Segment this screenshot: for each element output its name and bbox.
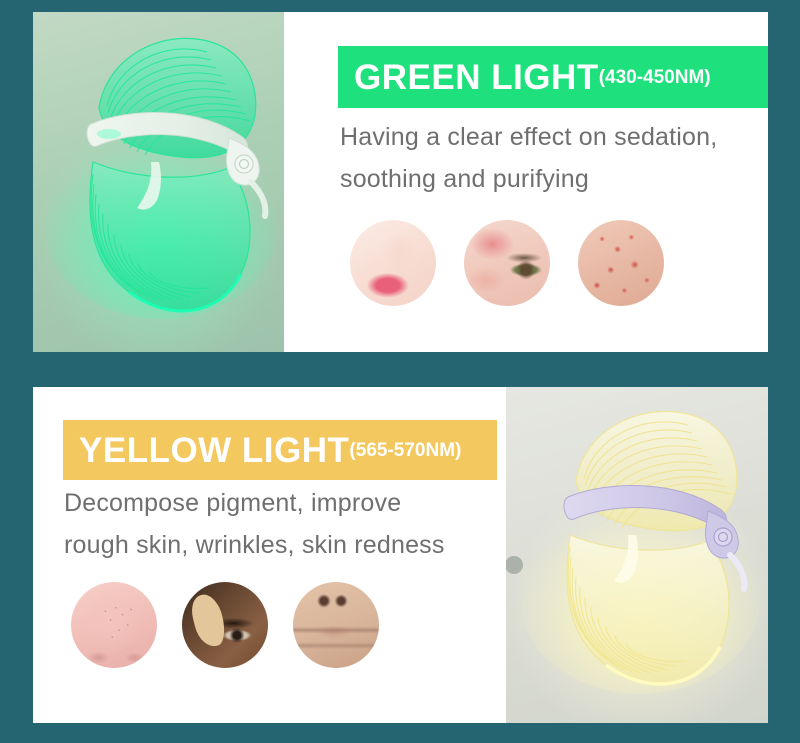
- skin-acne-thumbnail: [578, 220, 664, 306]
- yellow-light-description-line-1: Decompose pigment, improve: [64, 482, 514, 524]
- skin-nose-lips-thumbnail: [350, 220, 436, 306]
- green-light-badge: GREEN LIGHT (430-450NM): [338, 46, 768, 108]
- green-light-description-line-2: soothing and purifying: [340, 158, 768, 200]
- yellow-light-badge: YELLOW LIGHT (565-570NM): [63, 420, 497, 480]
- skin-eye-redness-thumbnail: [464, 220, 550, 306]
- product-feature-panel: GREEN LIGHT (430-450NM) Having a clear e…: [0, 0, 800, 743]
- yellow-light-title: YELLOW LIGHT: [79, 433, 349, 468]
- led-mask-yellow-illustration: [506, 387, 768, 723]
- led-mask-green-photo: [33, 12, 284, 352]
- skin-pigment-patch-thumbnail: [182, 582, 268, 668]
- green-light-description-line-1: Having a clear effect on sedation,: [340, 116, 768, 158]
- led-mask-green-illustration: [33, 12, 284, 352]
- led-mask-yellow-photo: [506, 387, 768, 723]
- yellow-light-card: YELLOW LIGHT (565-570NM) Decompose pigme…: [33, 387, 768, 723]
- yellow-light-thumbnail-row: [71, 582, 379, 668]
- green-light-card: GREEN LIGHT (430-450NM) Having a clear e…: [33, 12, 768, 352]
- yellow-light-wavelength: (565-570NM): [349, 441, 461, 460]
- skin-pores-nose-thumbnail: [71, 582, 157, 668]
- yellow-light-content: YELLOW LIGHT (565-570NM) Decompose pigme…: [33, 387, 506, 723]
- yellow-light-description-line-2: rough skin, wrinkles, skin redness: [64, 524, 514, 566]
- green-light-description: Having a clear effect on sedation, sooth…: [340, 116, 768, 200]
- skin-wrinkles-thumbnail: [293, 582, 379, 668]
- green-light-content: GREEN LIGHT (430-450NM) Having a clear e…: [284, 12, 768, 352]
- yellow-light-description: Decompose pigment, improve rough skin, w…: [64, 482, 514, 566]
- green-light-wavelength: (430-450NM): [599, 68, 711, 87]
- green-light-title: GREEN LIGHT: [354, 60, 599, 95]
- green-light-thumbnail-row: [350, 220, 664, 306]
